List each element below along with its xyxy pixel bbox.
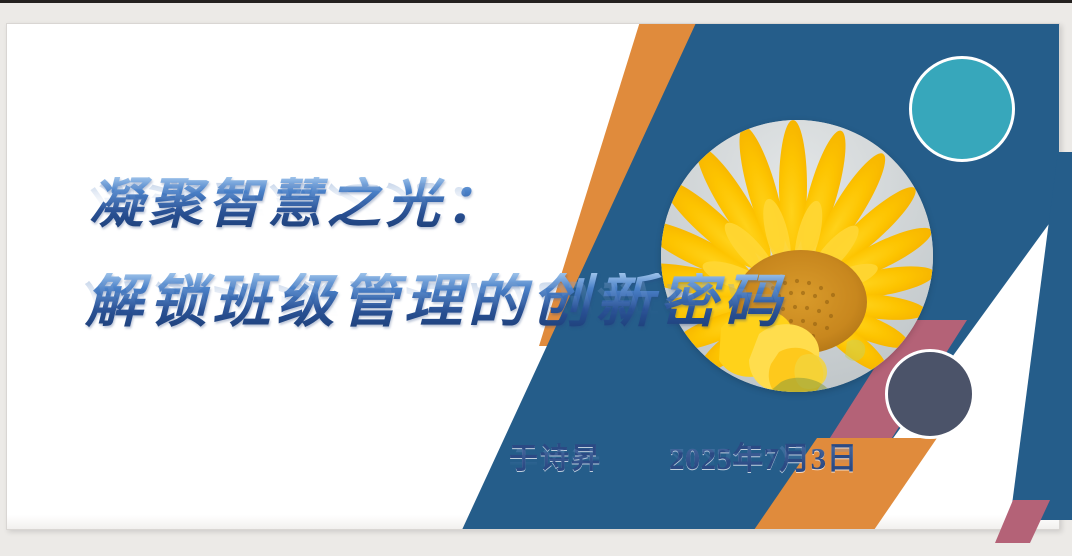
top-edge-hairline: [0, 0, 1072, 3]
presentation-slide: 凝聚智慧之光： 凝聚智慧之光： 解锁班级管理的创新密码 解锁班级管理的创新密码 …: [0, 0, 1072, 556]
slide-author: 于诗昇: [509, 445, 602, 474]
slide-card: 凝聚智慧之光： 凝聚智慧之光： 解锁班级管理的创新密码 解锁班级管理的创新密码 …: [6, 23, 1060, 530]
slide-title-line-1-reflection: 凝聚智慧之光：: [89, 179, 505, 233]
slide-date: 2025年7月3日: [669, 443, 858, 474]
slide-title-line-1: 凝聚智慧之光：: [89, 177, 505, 231]
sunflower-photo: [661, 120, 933, 392]
sunflower-photo-circle: [661, 120, 933, 392]
slate-accent-circle: [885, 349, 975, 439]
slide-date-reflection: 2025年7月3日: [669, 444, 858, 475]
card-bottom-gradient: [7, 515, 1059, 529]
slide-author-reflection: 于诗昇: [509, 446, 602, 475]
teal-accent-circle: [909, 56, 1015, 162]
